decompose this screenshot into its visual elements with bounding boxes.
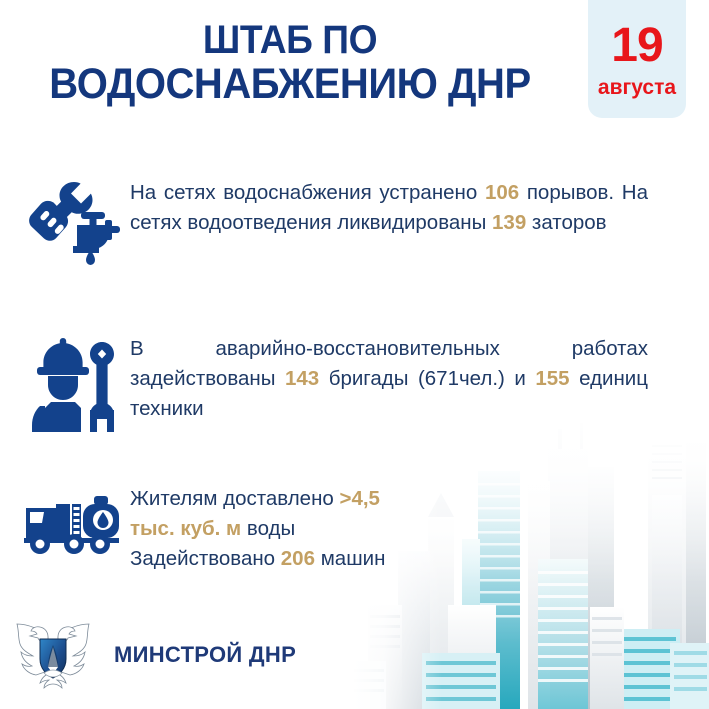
stat-row-text-3: Жителям доставлено >4,5 тыс. куб. м воды… (130, 482, 430, 574)
text-seg: На сетях водоснабжения устранено (130, 181, 485, 204)
page-title: ШТАБ ПО ВОДОСНАБЖЕНИЮ ДНР (20, 18, 559, 106)
brand-label: МИНСТРОЙ ДНР (114, 642, 296, 668)
worker-wrench-icon (14, 332, 130, 436)
stat-row-text-1: На сетях водоснабжения устранено 106 пор… (130, 176, 648, 238)
infographic-page: ШТАБ ПО ВОДОСНАБЖЕНИЮ ДНР 19 августа (0, 0, 709, 709)
title-line-2: ВОДОСНАБЖЕНИЮ ДНР (20, 62, 559, 106)
dnr-emblem-icon (10, 615, 96, 695)
stat-row-water-networks: На сетях водоснабжения устранено 106 пор… (14, 176, 684, 280)
highlight-number: 139 (492, 211, 526, 234)
date-badge: 19 августа (588, 0, 686, 118)
highlight-number: 155 (535, 367, 569, 390)
date-day: 19 (588, 0, 686, 72)
stat-row-brigades: В аварийно-восстановительных работах зад… (14, 332, 684, 436)
highlight-number: 143 (285, 367, 319, 390)
text-seg: Жителям доставлено (130, 487, 339, 510)
hand-wrench-faucet-icon (14, 176, 130, 280)
highlight-number: 206 (281, 547, 315, 570)
text-seg: бригады (671чел.) и (319, 367, 535, 390)
date-month: августа (588, 76, 686, 100)
title-line-1: ШТАБ ПО (20, 18, 559, 62)
text-seg: машин (315, 547, 385, 570)
text-seg: заторов (526, 211, 606, 234)
water-tanker-truck-icon (14, 482, 130, 562)
footer: МИНСТРОЙ ДНР (10, 615, 296, 695)
highlight-number: 106 (485, 181, 519, 204)
stat-row-water-delivery: Жителям доставлено >4,5 тыс. куб. м воды… (14, 482, 444, 574)
stat-row-text-2: В аварийно-восстановительных работах зад… (130, 332, 648, 424)
